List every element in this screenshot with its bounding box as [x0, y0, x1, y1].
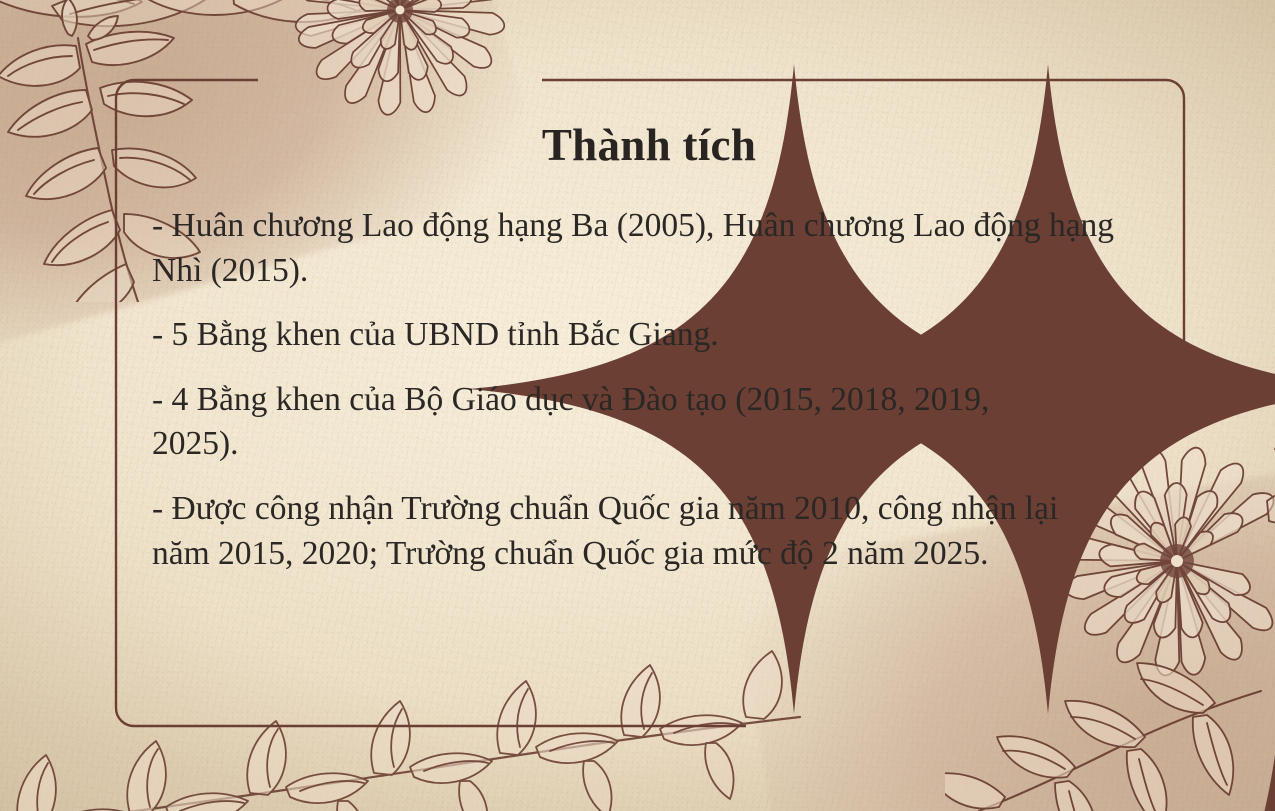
list-item: - 5 Bằng khen của UBND tỉnh Bắc Giang.	[152, 313, 1146, 358]
slide-canvas: Thành tích - Huân chương Lao động hạng B…	[0, 0, 1275, 811]
list-item: - Huân chương Lao động hạng Ba (2005), H…	[152, 204, 1146, 293]
page-title: Thành tích	[152, 122, 1146, 169]
slide-content: Thành tích - Huân chương Lao động hạng B…	[114, 78, 1186, 728]
list-item: - 4 Bằng khen của Bộ Giáo dục và Đào tạo…	[152, 378, 1057, 467]
achievement-list: - Huân chương Lao động hạng Ba (2005), H…	[152, 204, 1146, 576]
list-item: - Được công nhận Trường chuẩn Quốc gia n…	[152, 487, 1112, 576]
